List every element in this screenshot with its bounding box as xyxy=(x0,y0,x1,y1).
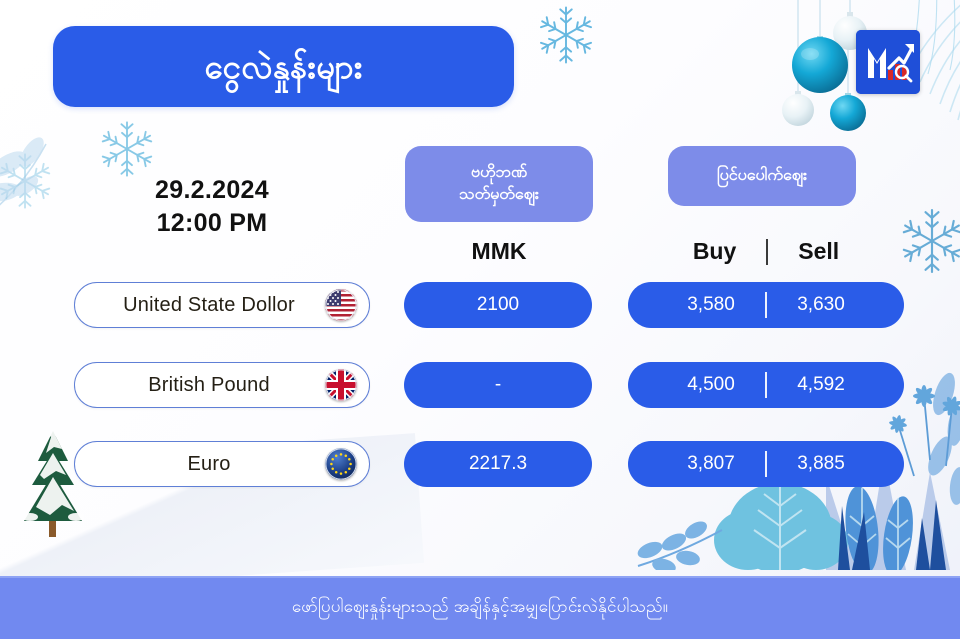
central-bank-rate-pill: - xyxy=(404,362,592,408)
currency-name-pill[interactable]: British Pound xyxy=(74,362,370,408)
sell-rate: 3,630 xyxy=(767,294,875,316)
buy-rate: 4,500 xyxy=(657,374,765,396)
central-bank-rate-pill: 2217.3 xyxy=(404,441,592,487)
central-bank-badge-line1: ဗဟိုဘဏ် xyxy=(459,162,539,184)
footer-bar: ဖော်ပြပါဈေးနှုန်းများသည် အချိန်နှင့်အမျှ… xyxy=(0,576,960,639)
poster-canvas: ငွေလဲနှုန်းများ 29.2.2024 12:00 PM ဗဟိုဘ… xyxy=(0,0,960,639)
us-flag-icon xyxy=(325,289,357,321)
central-bank-rate: - xyxy=(495,374,501,396)
central-bank-rate: 2100 xyxy=(477,294,519,316)
buy-sell-divider xyxy=(766,239,768,265)
sell-label: Sell xyxy=(798,238,839,265)
sell-rate: 4,592 xyxy=(767,374,875,396)
currency-name-pill[interactable]: Euro xyxy=(74,441,370,487)
currency-name-pill[interactable]: United State Dollor xyxy=(74,282,370,328)
date-value: 29.2.2024 xyxy=(76,176,348,205)
snowflake-icon xyxy=(896,205,960,277)
currency-name: Euro xyxy=(187,453,256,476)
time-value: 12:00 PM xyxy=(76,209,348,238)
currency-name: British Pound xyxy=(148,374,296,397)
central-bank-rate: 2217.3 xyxy=(469,453,527,475)
market-rate-column-badge: ပြင်ပပေါက်ဈေး xyxy=(668,146,856,206)
page-title: ငွေလဲနှုန်းများ xyxy=(204,48,362,86)
central-bank-badge-line2: သတ်မှတ်ဈေး xyxy=(459,184,539,206)
central-bank-rate-pill: 2100 xyxy=(404,282,592,328)
uk-flag-icon xyxy=(325,369,357,401)
currency-name: United State Dollor xyxy=(123,294,321,317)
market-rate-pill: 3,807 3,885 xyxy=(628,441,904,487)
buy-label: Buy xyxy=(693,238,736,265)
ornaments-decoration xyxy=(740,0,870,135)
snowflake-icon xyxy=(534,3,598,67)
eu-flag-icon xyxy=(325,448,357,480)
m-chart-logo-icon xyxy=(856,30,920,94)
market-badge-label: ပြင်ပပေါက်ဈေး xyxy=(717,165,807,187)
buy-rate: 3,807 xyxy=(657,453,765,475)
pine-tree-icon xyxy=(16,427,90,539)
buy-sell-subheader: Buy Sell xyxy=(628,238,904,265)
central-bank-column-badge: ဗဟိုဘဏ် သတ်မှတ်ဈေး xyxy=(405,146,593,222)
page-title-card: ငွေလဲနှုန်းများ xyxy=(53,26,514,107)
market-rate-pill: 3,580 3,630 xyxy=(628,282,904,328)
brand-logo[interactable] xyxy=(856,30,920,94)
date-block: 29.2.2024 12:00 PM xyxy=(76,176,348,238)
buy-rate: 3,580 xyxy=(657,294,765,316)
mmk-subheader: MMK xyxy=(405,238,593,265)
sell-rate: 3,885 xyxy=(767,453,875,475)
disclaimer-text: ဖော်ပြပါဈေးနှုန်းများသည် အချိန်နှင့်အမျှ… xyxy=(292,596,668,621)
market-rate-pill: 4,500 4,592 xyxy=(628,362,904,408)
